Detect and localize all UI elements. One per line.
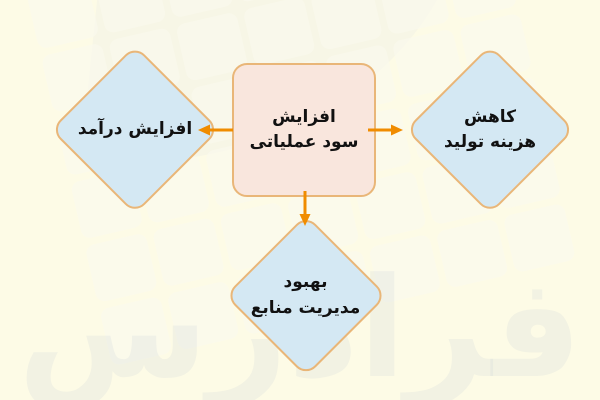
node-bottom-label: بهبود مدیریت منابع [251,270,360,321]
node-bottom-improve-resource-management[interactable]: بهبود مدیریت منابع [227,217,384,374]
node-left-increase-revenue[interactable]: افزایش درآمد [53,48,217,212]
arrow-center-to-left-icon [196,121,234,139]
node-right-reduce-production-cost[interactable]: کاهش هزینه تولید [408,48,572,212]
arrow-center-to-bottom-icon [296,190,314,228]
arrow-center-to-right-icon [367,121,405,139]
node-left-label: افزایش درآمد [78,117,192,143]
diagram-canvas: فرادرس افزایش سود عملیاتی افزایش درآمد ک… [0,0,600,400]
node-right-label: کاهش هزینه تولید [444,105,536,156]
node-center-increase-operational-profit[interactable]: افزایش سود عملیاتی [232,63,376,197]
node-center-label: افزایش سود عملیاتی [250,105,359,156]
